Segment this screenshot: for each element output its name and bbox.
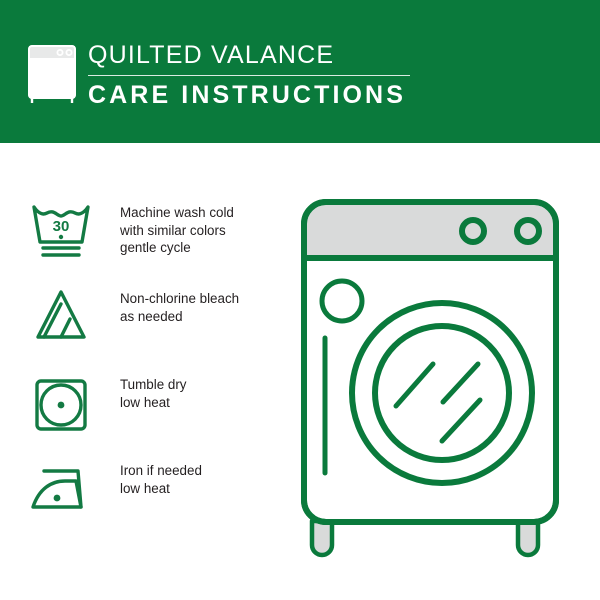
detergent-dispenser-icon: [322, 281, 362, 321]
washing-machine-icon: [24, 42, 80, 106]
care-text-line: gentle cycle: [120, 239, 285, 257]
wash-temperature-label: 30: [53, 218, 70, 235]
care-row: Tumble dry low heat: [30, 372, 290, 458]
title-divider: [88, 75, 410, 76]
care-text-line: Machine wash cold: [120, 204, 285, 222]
care-text-line: with similar colors: [120, 222, 285, 240]
control-knob[interactable]: [517, 220, 539, 242]
care-text-line: low heat: [120, 480, 285, 498]
washing-machine-illustration: [290, 188, 590, 568]
machine-wash-cold-icon: 30: [30, 200, 92, 262]
care-text: Non-chlorine bleach as needed: [120, 290, 285, 325]
care-text-line: Iron if needed: [120, 462, 285, 480]
content-area: 30 Machine wash cold with similar colors…: [0, 143, 600, 600]
care-instructions-page: QUILTED VALANCE CARE INSTRUCTIONS: [0, 0, 600, 600]
care-symbol-list: 30 Machine wash cold with similar colors…: [30, 200, 290, 544]
page-title: QUILTED VALANCE: [88, 40, 508, 70]
control-knob[interactable]: [462, 220, 484, 242]
page-subtitle: CARE INSTRUCTIONS: [88, 80, 508, 110]
non-chlorine-bleach-icon: [30, 286, 92, 348]
tumble-dry-low-icon: [30, 372, 92, 434]
machine-foot: [312, 521, 332, 555]
machine-foot: [518, 521, 538, 555]
care-row: Non-chlorine bleach as needed: [30, 286, 290, 372]
iron-low-heat-icon: [30, 458, 92, 520]
care-text: Machine wash cold with similar colors ge…: [120, 204, 285, 257]
care-text-line: Non-chlorine bleach: [120, 290, 285, 308]
header-banner: QUILTED VALANCE CARE INSTRUCTIONS: [0, 0, 600, 143]
care-row: 30 Machine wash cold with similar colors…: [30, 200, 290, 286]
care-text: Tumble dry low heat: [120, 376, 285, 411]
care-row: Iron if needed low heat: [30, 458, 290, 544]
header-text-block: QUILTED VALANCE CARE INSTRUCTIONS: [88, 40, 508, 110]
care-text-line: low heat: [120, 394, 285, 412]
care-text-line: Tumble dry: [120, 376, 285, 394]
care-text-line: as needed: [120, 308, 285, 326]
care-text: Iron if needed low heat: [120, 462, 285, 497]
